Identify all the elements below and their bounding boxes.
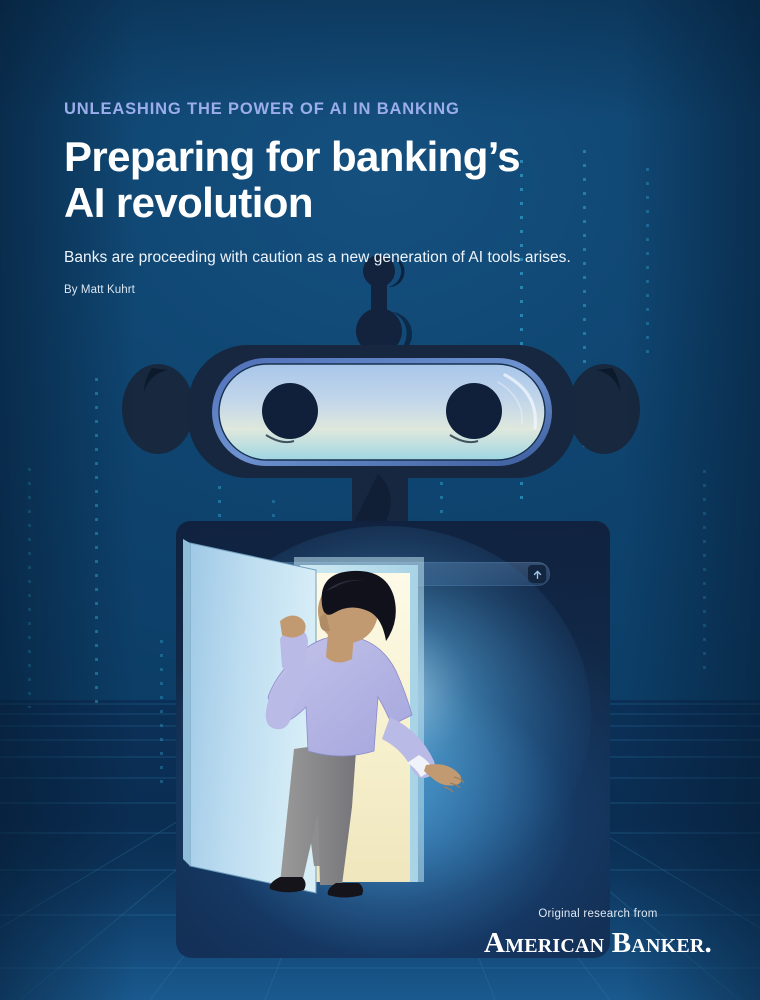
brand-eyebrow: Original research from (484, 908, 712, 920)
robot-ear-left (122, 364, 194, 454)
headline-line-2: AI revolution (64, 180, 704, 226)
headline-line-1: Preparing for banking’s (64, 133, 520, 180)
brand-block: Original research from American Banker. (484, 908, 712, 958)
page-title: Preparing for banking’s AI revolution (64, 134, 704, 226)
robot-eye-left (262, 383, 318, 439)
cover-page: Ask Chatbot... (0, 0, 760, 1000)
robot-ear-right (568, 364, 640, 454)
cover-text-block: UNLEASHING THE POWER OF AI IN BANKING Pr… (64, 100, 704, 296)
american-banker-logo: American Banker. (484, 929, 712, 958)
kicker-label: UNLEASHING THE POWER OF AI IN BANKING (64, 100, 704, 118)
robot-eye-right (446, 383, 502, 439)
deck-text: Banks are proceeding with caution as a n… (64, 249, 704, 267)
byline: By Matt Kuhrt (64, 284, 704, 296)
